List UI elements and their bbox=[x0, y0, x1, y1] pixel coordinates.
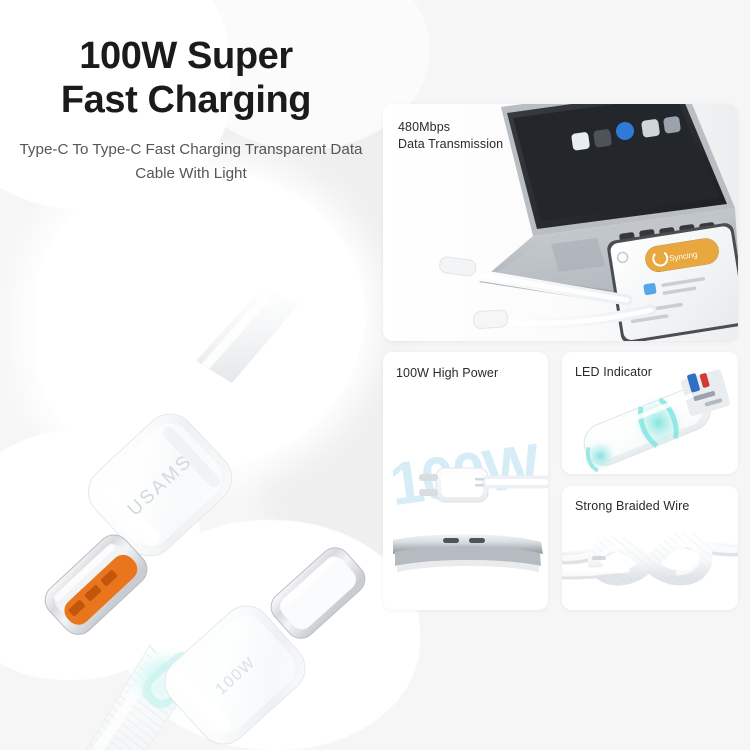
hero-cable-illustration: USAMS 100W bbox=[0, 175, 375, 750]
headline-line-2: Fast Charging bbox=[0, 78, 372, 122]
panel-power-label: 100W High Power bbox=[396, 365, 498, 382]
panel-led-label: LED Indicator bbox=[575, 364, 652, 381]
cable-connector-a: USAMS bbox=[39, 287, 300, 641]
panel-power-artwork: 100W bbox=[383, 352, 548, 610]
panel-data-transmission[interactable]: Syncing 480Mbps Data Transmission bbox=[383, 104, 738, 341]
phone-illustration: Syncing bbox=[606, 222, 738, 341]
page-title: 100W Super Fast Charging bbox=[0, 34, 372, 123]
panel-data-label: 480Mbps Data Transmission bbox=[398, 119, 503, 154]
panel-braided-wire[interactable]: Strong Braided Wire bbox=[562, 486, 738, 610]
panel-led-indicator[interactable]: LED Indicator bbox=[562, 352, 738, 474]
page-subtitle: Type-C To Type-C Fast Charging Transpare… bbox=[16, 138, 366, 185]
panel-high-power[interactable]: 100W 100W High Power bbox=[383, 352, 548, 610]
cable-band bbox=[592, 556, 606, 560]
panel-braid-label: Strong Braided Wire bbox=[575, 498, 689, 515]
headline-line-1: 100W Super bbox=[79, 35, 293, 77]
